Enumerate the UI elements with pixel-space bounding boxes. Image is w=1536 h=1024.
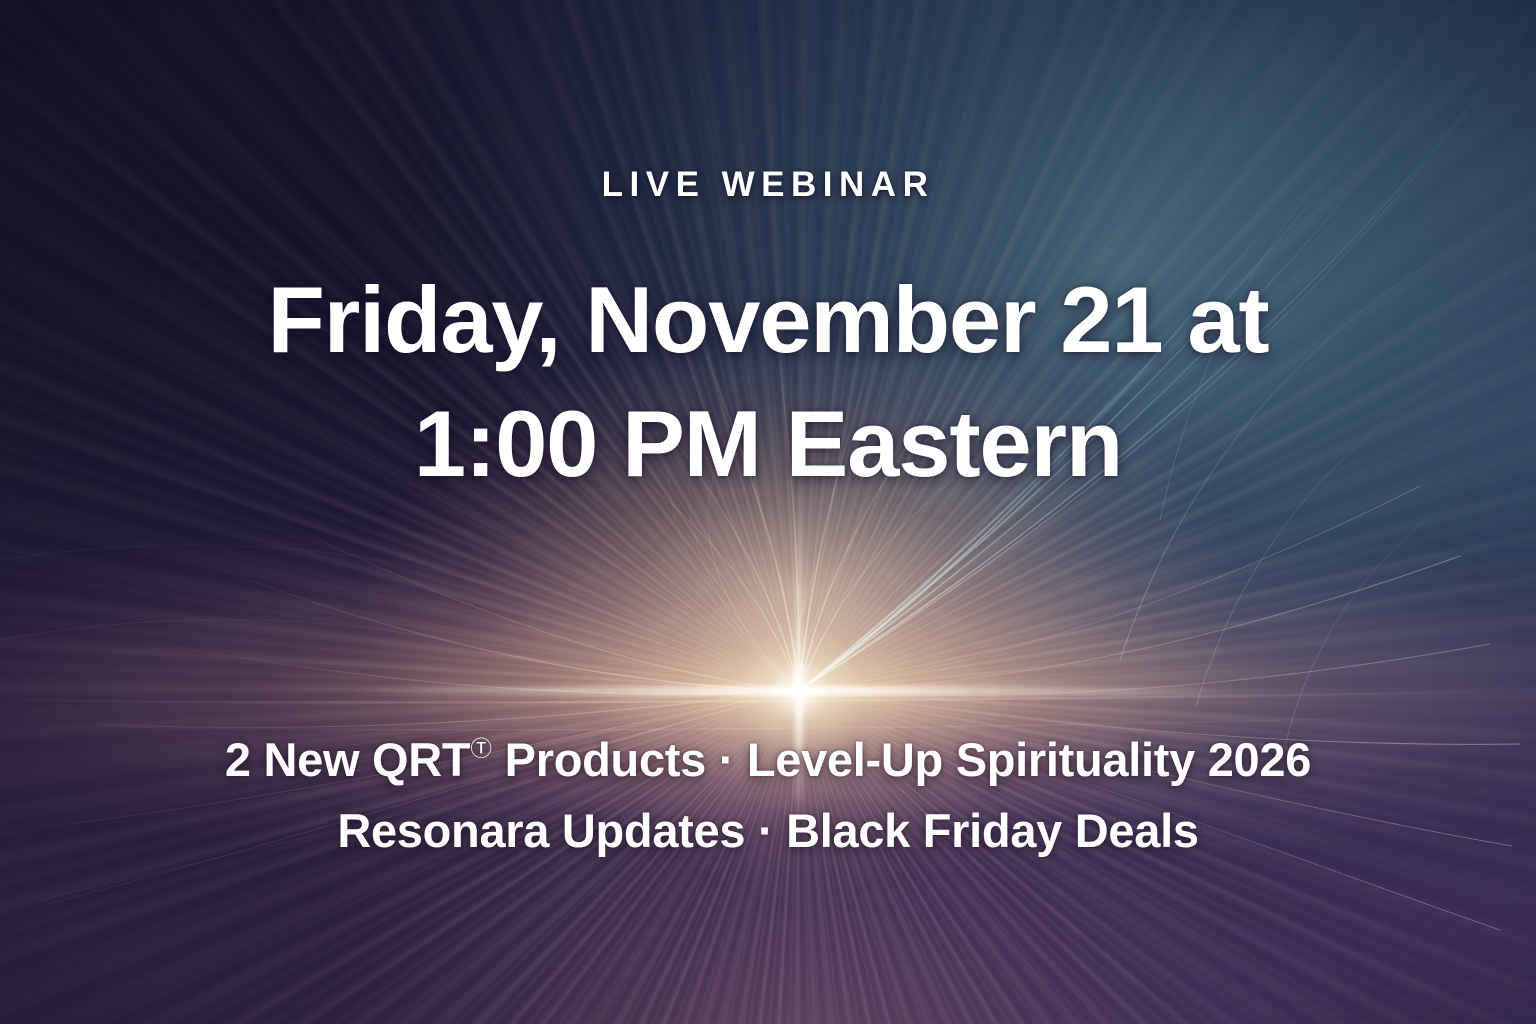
subtitle-line-1: 2 New QRTⓉ Products · Level-Up Spiritual… bbox=[0, 724, 1536, 795]
trademark-icon: Ⓣ bbox=[470, 738, 492, 760]
eyebrow-label: LIVE WEBINAR bbox=[0, 167, 1536, 202]
headline-line-2: 1:00 PM Eastern bbox=[0, 382, 1536, 506]
webinar-announcement-poster: LIVE WEBINAR Friday, November 21 at 1:00… bbox=[0, 0, 1536, 1024]
subtitle-brand-text: 2 New QRT bbox=[225, 733, 470, 786]
poster-content: LIVE WEBINAR Friday, November 21 at 1:00… bbox=[0, 0, 1536, 1024]
subtitle-block: 2 New QRTⓉ Products · Level-Up Spiritual… bbox=[0, 724, 1536, 867]
subtitle-line-1-rest: Products · Level-Up Spirituality 2026 bbox=[492, 733, 1311, 786]
page-title: Friday, November 21 at 1:00 PM Eastern bbox=[0, 258, 1536, 506]
headline-line-1: Friday, November 21 at bbox=[0, 258, 1536, 382]
subtitle-line-2: Resonara Updates · Black Friday Deals bbox=[0, 795, 1536, 866]
